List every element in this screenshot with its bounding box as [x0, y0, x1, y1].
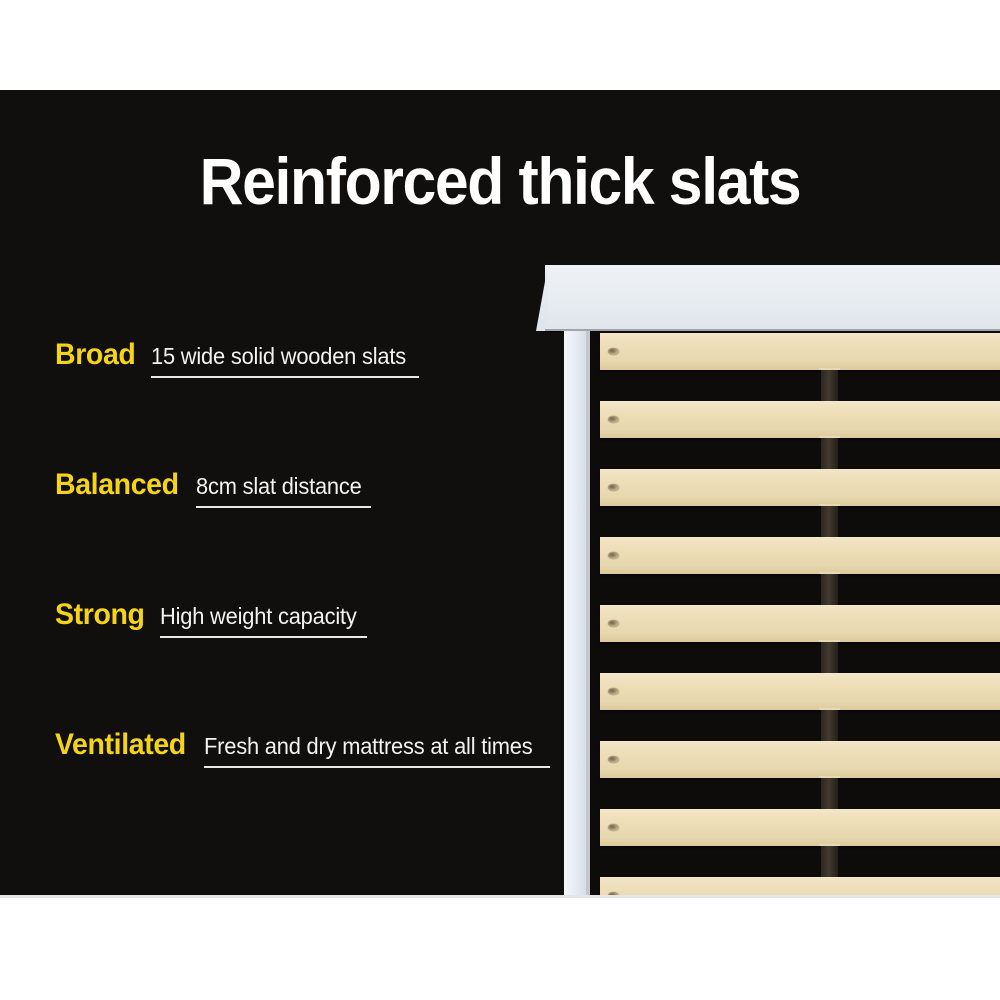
slat-center-connector — [821, 438, 838, 469]
feature-underline — [204, 766, 550, 768]
feature-description: Fresh and dry mattress at all times — [204, 733, 533, 760]
wooden-slat — [600, 401, 1000, 438]
product-feature-banner: Reinforced thick slats Broad 15 wide sol… — [0, 0, 1000, 1000]
feature-description-group: High weight capacity — [160, 603, 367, 638]
slat-center-connector — [821, 574, 838, 605]
slat-connector-cap — [819, 844, 840, 846]
feature-description: 8cm slat distance — [196, 473, 362, 500]
wooden-slat — [600, 537, 1000, 574]
panel-bottom-shadow — [0, 895, 1000, 898]
slat-group — [590, 331, 1000, 895]
slat-connector-cap — [819, 572, 840, 574]
feature-item-ventilated: Ventilated Fresh and dry mattress at all… — [55, 728, 575, 858]
feature-underline — [196, 506, 370, 508]
feature-description: 15 wide solid wooden slats — [151, 343, 406, 370]
wooden-slat — [600, 469, 1000, 506]
feature-label: Balanced — [55, 468, 179, 502]
feature-list: Broad 15 wide solid wooden slats Balance… — [55, 338, 575, 858]
wooden-slat — [600, 809, 1000, 846]
feature-item-balanced: Balanced 8cm slat distance — [55, 468, 575, 598]
wooden-slat — [600, 741, 1000, 778]
wooden-slat — [600, 877, 1000, 895]
slat-connector-cap — [819, 436, 840, 438]
bed-frame-top-rail — [545, 265, 1000, 331]
slat-center-connector — [821, 370, 838, 401]
slat-connector-cap — [819, 504, 840, 506]
feature-description-group: Fresh and dry mattress at all times — [204, 733, 550, 768]
slat-connector-cap — [819, 368, 840, 370]
feature-underline — [160, 636, 367, 638]
black-content-panel: Reinforced thick slats Broad 15 wide sol… — [0, 90, 1000, 895]
slat-center-connector — [821, 710, 838, 741]
feature-label: Broad — [55, 338, 135, 372]
slat-center-connector — [821, 642, 838, 673]
slat-connector-cap — [819, 640, 840, 642]
feature-description-group: 8cm slat distance — [196, 473, 370, 508]
wooden-slat — [600, 605, 1000, 642]
feature-item-strong: Strong High weight capacity — [55, 598, 575, 728]
feature-description-group: 15 wide solid wooden slats — [151, 343, 419, 378]
slat-connector-cap — [819, 708, 840, 710]
bed-slats-photo — [536, 90, 1000, 895]
feature-label: Strong — [55, 598, 145, 632]
wooden-slat — [600, 673, 1000, 710]
feature-item-broad: Broad 15 wide solid wooden slats — [55, 338, 575, 468]
slat-center-connector — [821, 778, 838, 809]
slat-center-connector — [821, 506, 838, 537]
feature-underline — [151, 376, 419, 378]
bed-frame-side-rail — [564, 331, 586, 895]
feature-label: Ventilated — [55, 728, 186, 762]
feature-description: High weight capacity — [160, 603, 357, 630]
wooden-slat — [600, 333, 1000, 370]
slat-center-connector — [821, 846, 838, 877]
slat-connector-cap — [819, 776, 840, 778]
